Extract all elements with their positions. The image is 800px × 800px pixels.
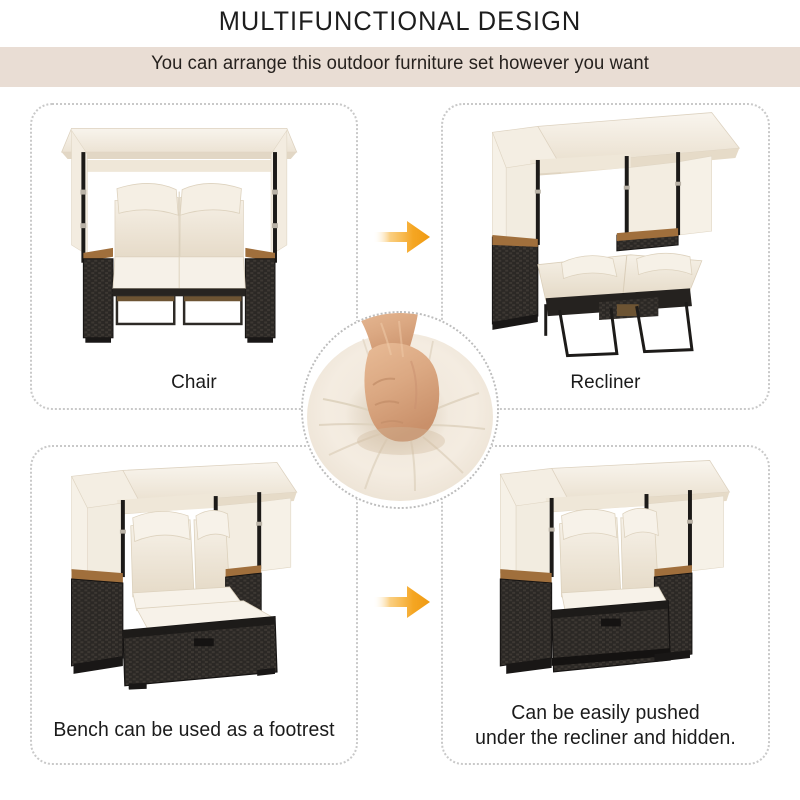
card-chair[interactable]: Chair <box>30 103 358 410</box>
arrow-right-icon-bottom <box>373 583 431 621</box>
recliner-illustration <box>443 105 768 375</box>
page-subtitle: You can arrange this outdoor furniture s… <box>12 53 788 75</box>
chair-illustration <box>32 105 356 375</box>
footrest-illustration <box>32 447 356 719</box>
card-recliner[interactable]: Recliner <box>441 103 770 410</box>
page-title: MULTIFUNCTIONAL DESIGN <box>24 6 776 37</box>
hidden-bench-illustration <box>443 447 768 709</box>
fist-pressing-cushion-art <box>303 313 497 507</box>
cushion-press-inset <box>301 311 499 509</box>
card-footrest-label: Bench can be used as a footrest <box>37 718 351 743</box>
infographic-page: MULTIFUNCTIONAL DESIGN You can arrange t… <box>0 0 800 800</box>
card-footrest[interactable]: Bench can be used as a footrest <box>30 445 358 765</box>
card-hidden-bench[interactable]: Can be easily pushed under the recliner … <box>441 445 770 765</box>
card-hidden-bench-label: Can be easily pushed under the recliner … <box>448 701 763 751</box>
arrow-right-icon-top <box>373 218 431 256</box>
